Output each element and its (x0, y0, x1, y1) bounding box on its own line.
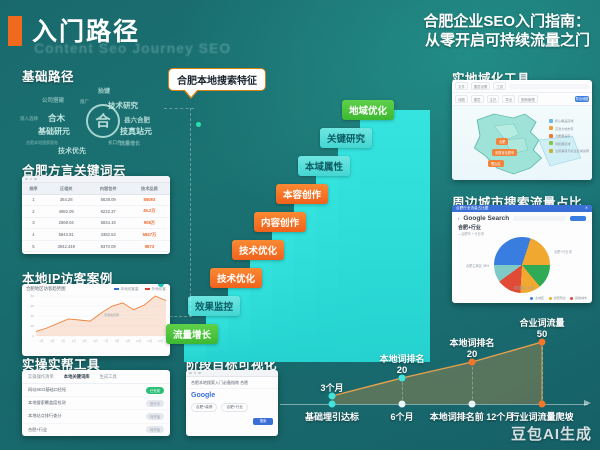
legend-label: 次要覆盖区 (555, 133, 570, 138)
svg-text:2月: 2月 (50, 339, 54, 343)
table-cell: 5638.09 (88, 195, 129, 206)
wordcloud-term: 流量增长 (120, 140, 140, 147)
pie-label-right: 合肥+行业词 (554, 249, 572, 254)
svg-text:30: 30 (31, 314, 35, 318)
trend-point-label: 本地词排名20 (449, 336, 494, 360)
svg-text:8月: 8月 (115, 339, 119, 343)
pie-search-input[interactable] (513, 216, 566, 221)
table-cell: 8232.37 (88, 205, 129, 217)
legend-swatch (549, 119, 553, 123)
tool-row[interactable]: 本地站点排行查分待开始 (22, 410, 170, 423)
pie-label-bottom: 周边县区 14% (514, 285, 534, 290)
trend-point-label: 3个月 (320, 381, 343, 394)
svg-text:12月: 12月 (158, 339, 164, 343)
stair-step-label: 效果监控 (195, 302, 233, 313)
pie-caption: —合肥市 + 行业词 (452, 231, 592, 236)
trend-x-label: 本地词排名前 12个月 (430, 410, 515, 423)
close-icon[interactable]: ✕ (585, 206, 588, 211)
map-tag: 安徽省合肥市 (492, 149, 517, 156)
trend-guide-line (472, 362, 473, 404)
legend-label: 待拓展区域 (555, 141, 570, 146)
trend-x-label: 行业词流量爬坡 (510, 410, 573, 423)
table-col-header: 内容包件 (88, 183, 129, 195)
svg-text:6月: 6月 (94, 339, 98, 343)
map-tag: 蜀山区 (488, 160, 504, 167)
svg-text:0: 0 (32, 334, 34, 338)
wordcloud-term: 合木 (48, 112, 65, 124)
wordcloud-term: 长口合 (108, 140, 122, 146)
tool-row[interactable]: 网站SEO基础口径拓已完成 (22, 384, 170, 397)
map-legend-item: 高潜力城市带 (549, 126, 589, 131)
stair-step-label: 技术优化 (217, 274, 255, 285)
connector-line (164, 108, 194, 109)
trend-axis-arrow (584, 400, 591, 406)
map-legend-item: 次要覆盖区 (549, 133, 589, 138)
tool-tab[interactable]: 实操操作清单 (28, 374, 54, 380)
legend-label: 核心覆盖区域 (555, 118, 574, 123)
visitor-trend-card[interactable]: 合肥地区访客趋势图 本地访客量 外地访客 6045301501月2月3月4月5月… (22, 284, 170, 356)
legend-swatch (549, 141, 553, 145)
accent-bar (8, 16, 22, 46)
trend-axis-marker (469, 401, 476, 408)
trend-x-label: 基础埋引达标 (305, 410, 359, 423)
tool-tab[interactable]: 生成工具 (100, 374, 117, 380)
table-cell: 85093 (129, 195, 170, 206)
map-submenu[interactable]: 地图 图层 注记 导出 图例管理 导出地图 (452, 93, 592, 106)
tool-row[interactable]: 合肥+行业待开始 (22, 424, 170, 436)
table-cell: 3 (22, 217, 45, 229)
back-icon[interactable]: ‹ (458, 216, 459, 221)
map-legend-item: 待拓展区域 (549, 141, 589, 146)
pie-legend: 主城区合肥周边其他城市 (530, 296, 587, 300)
line-chart-svg: 6045301501月2月3月4月5月6月7月8月9月10月11月12月流量峰值… (22, 292, 170, 344)
legend-label: 高潜力城市带 (555, 126, 574, 131)
wordcloud-term: 技术优先 (58, 146, 86, 156)
table-cell: 46.2万 (129, 205, 170, 217)
keyword-table-card[interactable]: 排序正相关内容包件技术品质1364.285638.098509324982.09… (22, 176, 170, 254)
stair-step-label: 内容创作 (261, 218, 299, 229)
table-row[interactable]: 1364.285638.0985093 (22, 195, 170, 206)
trend-point-name: 本地词排名 (379, 354, 424, 364)
pie-brand: Google Search (463, 215, 509, 222)
pie-legend-item: 主城区 (530, 296, 544, 300)
table-cell: 5 (22, 241, 45, 252)
line-chart-header: 合肥地区访客趋势图 本地访客量 外地访客 (22, 284, 170, 292)
pie-label-left: 合肥主城区 38% (466, 263, 489, 268)
stair-step-label: 流量增长 (173, 330, 211, 341)
table-row[interactable]: 32869.045834.19908万 (22, 217, 170, 229)
tool-row-status: 已完成 (146, 387, 164, 394)
connector-line (190, 108, 191, 316)
wordcloud-term: 技术研究 (108, 100, 138, 111)
legend-swatch (549, 149, 553, 153)
trend-x-label: 6个月 (390, 410, 413, 423)
main-title-line1: 合肥企业SEO入门指南： (423, 12, 590, 31)
tool-row-status: 待开始 (146, 426, 164, 433)
map-tag: 合肥 (496, 138, 508, 145)
map-menu-layer[interactable]: 图层设置 (471, 82, 491, 90)
table-body: 1364.285638.098509324982.098232.3746.2万3… (22, 195, 170, 252)
table-cell: 2869.04 (45, 217, 88, 229)
legend-label: 合肥周边 (553, 296, 565, 300)
table-row[interactable]: 45843.813382.535847万 (22, 229, 170, 241)
callout-bubble: 合肥本地搜索特征 (168, 68, 266, 91)
wordcloud-term: 技真站元 (120, 126, 152, 137)
tool-row-label: 本地搜索覆盖度检测 (28, 400, 66, 406)
stair-step-chip[interactable]: 内容创作 (254, 212, 306, 232)
stair-step-label: 关键研究 (327, 134, 365, 145)
legend-swatch (570, 297, 573, 300)
stair-step-chip[interactable]: 本容创作 (276, 184, 328, 204)
trend-point-value: 20 (379, 365, 424, 376)
serp-chip-group[interactable]: 合肥+装修 合肥+行业 (186, 400, 278, 415)
serp-chip[interactable]: 合肥+装修 (191, 403, 217, 412)
line-chart-legend: 本地访客量 外地访客 (114, 287, 166, 292)
map-export-button[interactable]: 导出地图 (575, 96, 589, 102)
legend-item-a: 本地访客量 (114, 287, 139, 292)
card-titlebar (22, 176, 170, 183)
tool-row-label: 本地站点排行查分 (28, 413, 62, 419)
slide-canvas: 入门路径 Content Seo Journey SEO 合肥企业SEO入门指南… (0, 0, 600, 450)
main-title: 合肥企业SEO入门指南： 从零开启可持续流量之门 (423, 12, 590, 50)
svg-text:1月: 1月 (39, 339, 43, 343)
tool-row-label: 合肥+行业 (28, 427, 47, 433)
wordcloud-term: 县六合肥 (124, 114, 150, 124)
trend-axis-marker (539, 401, 546, 408)
wordcloud-term: 排入选择 (20, 116, 38, 122)
pie-search-button[interactable] (570, 216, 586, 222)
svg-text:10月: 10月 (136, 339, 142, 343)
table-cell: 908万 (129, 217, 170, 229)
trend-point-name: 本地词排名 (449, 338, 494, 348)
table-cell: 5843.81 (45, 229, 88, 241)
table-cell: 3382.53 (88, 229, 129, 241)
table-row[interactable]: 53942.4498370.099873 (22, 241, 170, 252)
stair-step-chip[interactable]: 关键研究 (320, 128, 372, 148)
tool-row[interactable]: 本地搜索覆盖度检测进行中 (22, 397, 170, 410)
stair-step-label: 地域优化 (349, 106, 387, 117)
pie-search-bar[interactable]: ‹ Google Search (452, 212, 592, 222)
main-title-line2: 从零开启可持续流量之门 (423, 31, 590, 50)
stair-step-chip[interactable]: 技术优化 (232, 240, 284, 260)
table-cell: 8370.09 (88, 241, 129, 252)
wordcloud-term: 公司搭建 (42, 96, 64, 104)
legend-item-b: 外地访客 (145, 287, 166, 292)
watermark: 豆包AI生成 (511, 423, 592, 444)
stair-step-label: 技术优化 (239, 246, 277, 257)
map-search-input[interactable] (509, 84, 589, 89)
table-cell: 2 (22, 205, 45, 217)
pie-window-title-text: 合肥行业流量占比图 (456, 206, 488, 211)
map-toolbar[interactable]: 文件 图层设置 工具 (452, 80, 592, 93)
trend-axis-marker (399, 401, 406, 408)
pie-legend-item: 其他城市 (570, 296, 587, 300)
tool-row-status: 待开始 (146, 413, 164, 420)
legend-label: 注意事项与标注区域说明 (555, 148, 589, 153)
trend-point-label: 本地词排名20 (379, 352, 424, 376)
pie-window-title: 合肥行业流量占比图 ✕ (452, 205, 592, 212)
map-menu-file[interactable]: 文件 (455, 82, 468, 90)
table-col-header: 排序 (22, 183, 45, 195)
svg-text:9月: 9月 (126, 339, 130, 343)
legend-swatch (549, 126, 553, 130)
map-submenu-map[interactable]: 地图 (455, 95, 468, 103)
wordcloud-term: 推广 (80, 99, 89, 105)
map-submenu-legend[interactable]: 图例管理 (518, 95, 538, 103)
svg-text:7月: 7月 (104, 339, 108, 343)
svg-text:4月: 4月 (72, 339, 76, 343)
pie-legend-item: 合肥周边 (549, 296, 566, 300)
connector-line (116, 316, 192, 317)
map-legend-item: 核心覆盖区域 (549, 118, 589, 123)
table-cell: 4 (22, 229, 45, 241)
tool-row-label: 网站SEO基础口径拓 (28, 387, 66, 393)
legend-label: 主城区 (535, 296, 544, 300)
table-cell: 364.28 (45, 195, 88, 206)
trend-point-label: 合业词流量50 (519, 316, 564, 340)
table-row[interactable]: 24982.098232.3746.2万 (22, 205, 170, 217)
stair-step-chip[interactable]: 流量增长 (166, 324, 218, 344)
tool-tab[interactable]: 本地关键词库 (64, 374, 90, 380)
table-col-header: 正相关 (45, 183, 88, 195)
stair-step-label: 本容创作 (283, 190, 321, 201)
pie-chart-card[interactable]: 合肥行业流量占比图 ✕ ‹ Google Search 合肥+行业 —合肥市 +… (452, 205, 592, 303)
table-col-header: 技术品质 (129, 183, 170, 195)
map-legend-item: 注意事项与标注区域说明 (549, 148, 589, 153)
svg-text:11月: 11月 (147, 339, 153, 343)
svg-text:5月: 5月 (83, 339, 87, 343)
legend-swatch (549, 297, 552, 300)
wordcloud-term: 抬键 (98, 86, 110, 95)
trend-point-name: 合业词流量 (519, 318, 564, 328)
table-cell: 4982.09 (45, 205, 88, 217)
trend-point-name: 3个月 (320, 383, 343, 393)
table-cell: 9873 (129, 241, 170, 252)
wordcloud-term: 基础研元 (38, 126, 70, 137)
map-submenu-layer[interactable]: 图层 (471, 95, 484, 103)
serp-search-button[interactable]: 搜索 (253, 418, 273, 425)
svg-text:3月: 3月 (61, 339, 65, 343)
map-menu-tools[interactable]: 工具 (493, 82, 506, 90)
practice-tool-card[interactable]: 实操操作清单本地关键词库生成工具 网站SEO基础口径拓已完成本地搜索覆盖度检测进… (22, 370, 170, 436)
table-cell: 5834.19 (88, 217, 129, 229)
stair-step-chip[interactable]: 效果监控 (188, 296, 240, 316)
stair-step-chip[interactable]: 本域属性 (298, 156, 350, 176)
trend-point-value: 20 (449, 349, 494, 360)
tool-tabs[interactable]: 实操操作清单本地关键词库生成工具 (22, 370, 170, 384)
trend-axis-marker (329, 401, 336, 408)
stair-step-chip[interactable]: 地域优化 (342, 100, 394, 120)
tool-row-list: 网站SEO基础口径拓已完成本地搜索覆盖度检测进行中本地站点排行查分待开始合肥+行… (22, 384, 170, 436)
trend-guide-line (542, 342, 543, 404)
stair-step-label: 本域属性 (305, 162, 343, 173)
svg-text:15: 15 (31, 324, 35, 328)
svg-text:60: 60 (31, 294, 35, 298)
serp-chip[interactable]: 合肥+行业 (221, 403, 247, 412)
table-cell: 5847万 (129, 229, 170, 241)
table-cell: 1 (22, 195, 45, 206)
page-subtitle: Content Seo Journey SEO (34, 40, 231, 56)
table-header-row: 排序正相关内容包件技术品质 (22, 183, 170, 195)
keyword-wordcloud: 合 公司搭建抬键技术研究推广排入选择合木县六合肥基础研元技真站元技术优先流量增长… (20, 78, 195, 160)
wordcloud-term: 合肥本地搜索服务 (26, 140, 58, 146)
svg-text:45: 45 (31, 304, 35, 308)
stair-step-chip[interactable]: 技术优化 (210, 268, 262, 288)
legend-label: 其他城市 (575, 296, 587, 300)
tool-row-status: 进行中 (146, 400, 164, 407)
map-submenu-note[interactable]: 注记 (487, 95, 500, 103)
map-canvas[interactable]: 合肥 安徽省合肥市 蜀山区 核心覆盖区域高潜力城市带次要覆盖区待拓展区域注意事项… (452, 106, 592, 180)
legend-swatch (530, 297, 533, 300)
trend-point-value: 50 (519, 329, 564, 340)
map-tool-card[interactable]: 文件 图层设置 工具 地图 图层 注记 导出 图例管理 导出地图 合肥 安徽省合… (452, 80, 592, 180)
map-legend: 核心覆盖区域高潜力城市带次要覆盖区待拓展区域注意事项与标注区域说明 (549, 118, 589, 156)
pie-subtitle: 合肥+行业 (452, 222, 592, 231)
legend-swatch (549, 134, 553, 138)
table-cell: 3942.449 (45, 241, 88, 252)
map-submenu-export[interactable]: 导出 (502, 95, 515, 103)
keyword-table: 排序正相关内容包件技术品质1364.285638.098509324982.09… (22, 183, 170, 252)
